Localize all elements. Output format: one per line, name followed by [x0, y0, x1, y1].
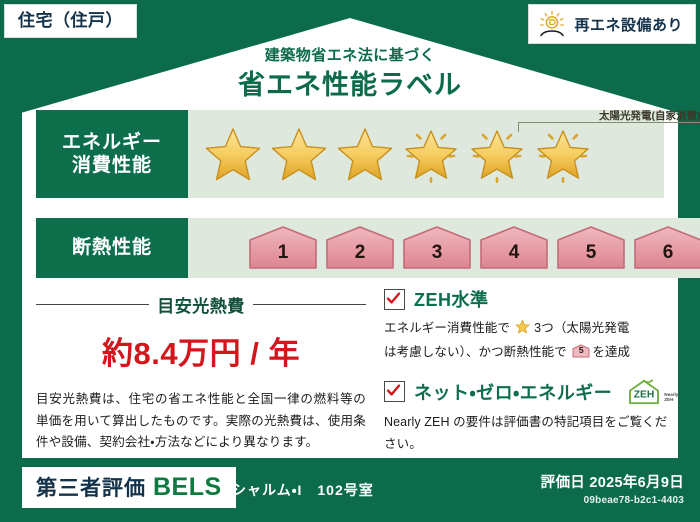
- insulation-level-number: 1: [246, 242, 320, 264]
- mini-star-icon: [515, 323, 534, 337]
- zeh-desc-part2: は考慮しない）、かつ断熱性能で: [384, 345, 567, 359]
- solar-portion-note: 太陽光発電(自家消費)分: [514, 108, 700, 123]
- divider-left: [36, 304, 149, 306]
- zeh-desc-part1: エネルギー消費性能で: [384, 321, 510, 335]
- star-rating: [188, 123, 594, 185]
- bels-plate: 第三者評価 BELS: [22, 467, 236, 508]
- insulation-level-item: 4: [477, 225, 551, 271]
- insulation-row-label-text: 断熱性能: [72, 236, 152, 259]
- renewable-energy-badge: 再エネ設備あり: [528, 4, 696, 44]
- insulation-level-item: 3: [400, 225, 474, 271]
- utility-cost-description: 目安光熱費は、住宅の省エネ性能と全国一律の燃料等の単価を用いて算出したものです。…: [36, 389, 366, 454]
- star-filled: [268, 123, 330, 185]
- star-filled: [334, 123, 396, 185]
- sun-solar-icon: [537, 10, 567, 38]
- label-subtitle: 建築物省エネ法に基づく: [0, 44, 700, 65]
- energy-stars-panel: 太陽光発電(自家消費)分: [188, 110, 664, 198]
- zeh-standard-checkbox[interactable]: [384, 289, 405, 310]
- evaluation-date-value: 2025年6月9日: [589, 475, 684, 491]
- mini-insulation-level-number: 5: [572, 346, 590, 355]
- evaluation-info: 評価日 2025年6月9日 09beae78-b2c1-4403: [541, 471, 684, 506]
- insulation-level-list: 1 2 3 4 5: [188, 225, 700, 271]
- insulation-level-number: 6: [631, 242, 700, 264]
- divider-right: [253, 304, 366, 306]
- net-zero-energy-checkbox[interactable]: [384, 381, 405, 402]
- zeh-desc-part3: を達成: [592, 345, 630, 359]
- building-type-badge: 住宅（住戸）: [4, 4, 137, 38]
- property-name: シャルム・I 102号室: [232, 480, 374, 500]
- insulation-level-number: 5: [554, 242, 628, 264]
- insulation-level-item: 6: [631, 225, 700, 271]
- energy-performance-label: 住宅（住戸） 再エネ設備あり 建築物省エネ法に基づく 省エ: [0, 0, 700, 522]
- zeh-standard-row: ZEH水準: [384, 286, 670, 312]
- building-type-label: 住宅（住戸）: [18, 11, 123, 30]
- insulation-level-number: 4: [477, 242, 551, 264]
- zeh-block: ZEH水準 エネルギー消費性能で 3つ（太陽光発電 は考慮しない）、かつ断熱性能…: [384, 286, 670, 455]
- insulation-row-label: 断熱性能: [36, 218, 188, 278]
- net-zero-energy-description: Nearly ZEH の要件は評価書の特記項目をご覧ください。: [384, 411, 670, 456]
- star-solar: [400, 123, 462, 185]
- energy-row-label-line2: 消費性能: [72, 154, 152, 177]
- insulation-level-item: 1: [246, 225, 320, 271]
- star-solar: [466, 123, 528, 185]
- star-filled: [202, 123, 264, 185]
- zeh-standard-description: エネルギー消費性能で 3つ（太陽光発電 は考慮しない）、かつ断熱性能で 5 を達…: [384, 317, 670, 364]
- utility-cost-value: 約8.4万円 / 年: [36, 328, 366, 373]
- mini-insulation-level-icon: 5: [572, 344, 590, 358]
- insulation-level-number: 2: [323, 242, 397, 264]
- energy-row-label: エネルギー 消費性能: [36, 110, 188, 198]
- insulation-levels-panel: 1 2 3 4 5: [188, 218, 700, 278]
- zeh-house-logo-icon: ZEH Nearly ZEH: [625, 378, 678, 406]
- insulation-level-item: 5: [554, 225, 628, 271]
- renewable-energy-label: 再エネ設備あり: [574, 14, 683, 35]
- energy-performance-row: エネルギー 消費性能 太陽光発電(自家消費)分: [36, 110, 664, 198]
- evaluation-id: 09beae78-b2c1-4403: [541, 495, 684, 506]
- label-title: 省エネ性能ラベル: [0, 63, 700, 102]
- star-solar: [532, 123, 594, 185]
- evaluation-date-label: 評価日: [541, 475, 585, 491]
- zeh-standard-title: ZEH水準: [414, 286, 489, 312]
- bels-logo-text: BELS: [153, 473, 222, 502]
- energy-row-label-line1: エネルギー: [62, 131, 162, 154]
- insulation-performance-row: 断熱性能 1 2 3: [36, 218, 664, 278]
- third-party-label: 第三者評価: [36, 472, 146, 502]
- solar-portion-bracket: [518, 122, 700, 132]
- utility-cost-heading: 目安光熱費: [36, 292, 366, 317]
- svg-text:ZEH: ZEH: [634, 389, 655, 400]
- net-zero-energy-row: ネット・ゼロ・エネルギー ZEH Nearly ZEH: [384, 378, 670, 406]
- zeh-desc-star-count: 3つ（太陽光発電: [534, 321, 629, 335]
- evaluation-date: 評価日 2025年6月9日: [541, 471, 684, 492]
- utility-cost-title: 目安光熱費: [157, 292, 245, 317]
- insulation-level-number: 3: [400, 242, 474, 264]
- zeh-logo-subtext: Nearly ZEH: [664, 393, 678, 406]
- net-zero-energy-title: ネット・ゼロ・エネルギー: [414, 379, 612, 405]
- zeh-logo-sub-line2: ZEH: [664, 397, 673, 402]
- insulation-level-item: 2: [323, 225, 397, 271]
- utility-cost-block: 目安光熱費 約8.4万円 / 年 目安光熱費は、住宅の省エネ性能と全国一律の燃料…: [36, 292, 366, 454]
